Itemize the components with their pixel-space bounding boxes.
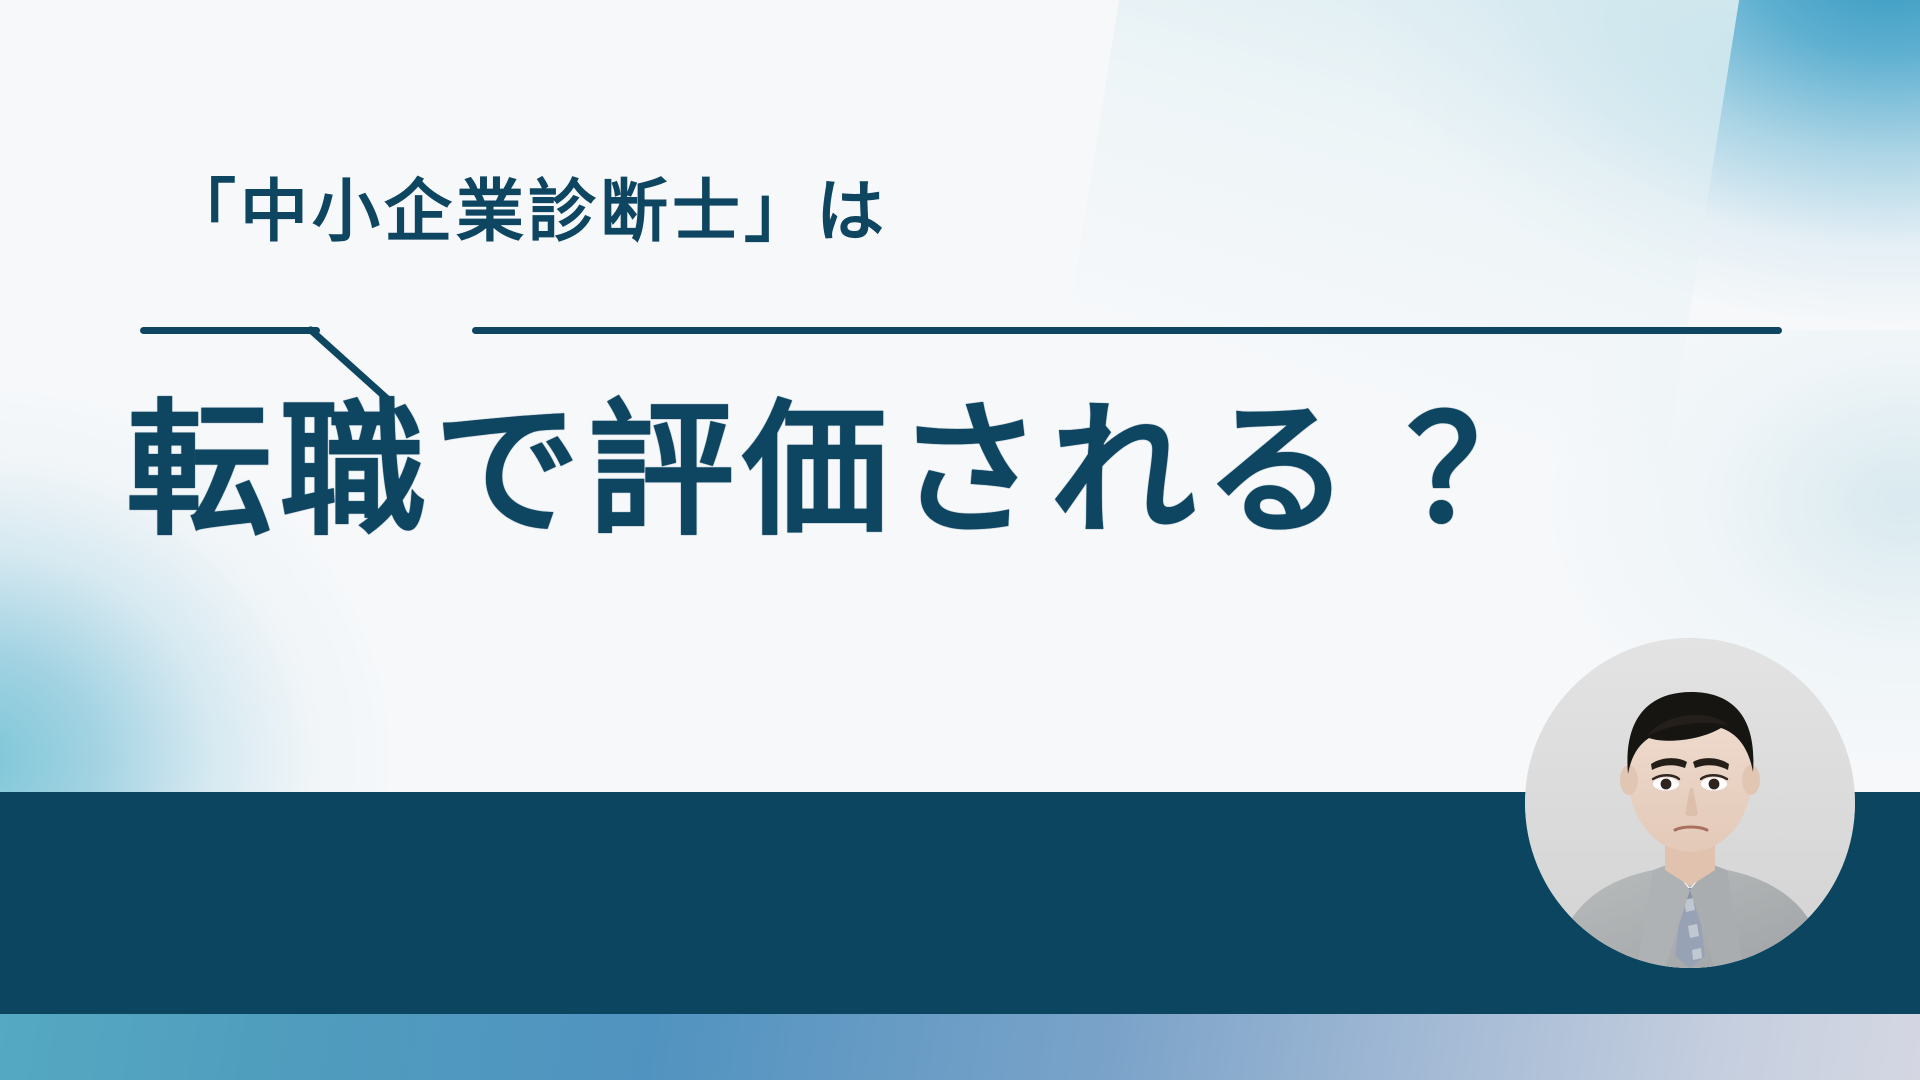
footer-gradient-strip bbox=[0, 1014, 1920, 1080]
avatar bbox=[1525, 638, 1855, 968]
gradient-wash-left bbox=[0, 300, 460, 860]
slide-canvas: 「中小企業診断士」は 転職で評価される ？ （株）WARC瀧田桜司 bbox=[0, 0, 1920, 1080]
page-title: 転職で評価される ？ bbox=[126, 398, 1561, 544]
rule-segment-right bbox=[472, 327, 1782, 334]
kicker-text: 「中小企業診断士」は bbox=[168, 178, 888, 246]
decorative-rule bbox=[140, 318, 1640, 378]
rule-segment-left bbox=[140, 327, 320, 334]
portrait-illustration bbox=[1525, 638, 1855, 968]
